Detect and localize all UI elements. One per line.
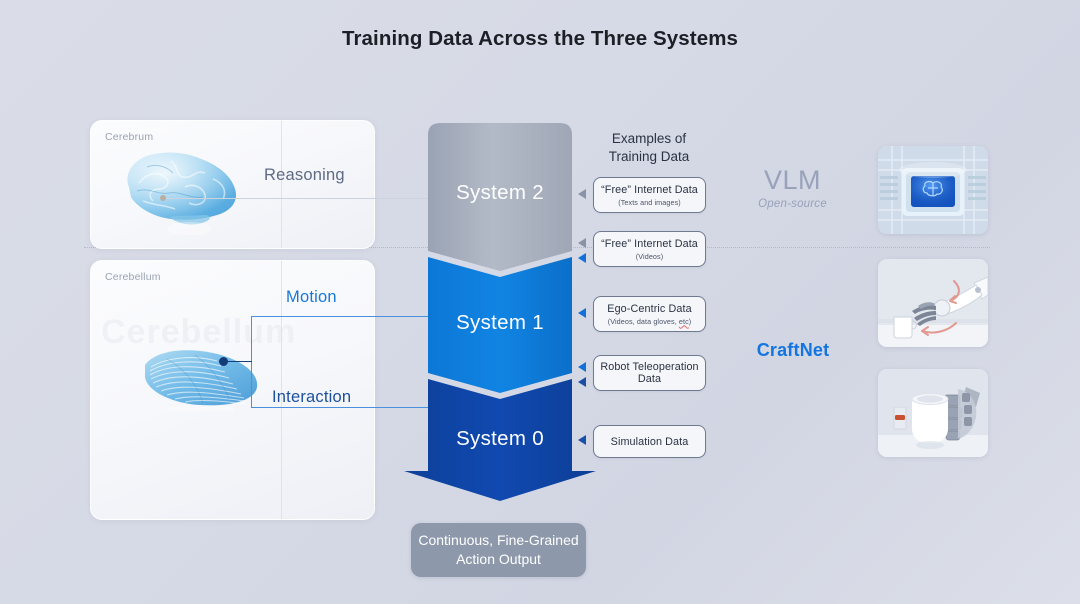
ai-chip-icon <box>878 146 988 234</box>
vlm-subtitle: Open-source <box>740 198 845 210</box>
vlm-title: VLM <box>740 165 845 196</box>
thumbnail-ai-chip[interactable] <box>878 146 988 234</box>
examples-heading: Examples of Training Data <box>583 130 715 166</box>
brain-illustration <box>113 143 253 235</box>
reasoning-connector-dot <box>160 195 166 201</box>
interaction-label: Interaction <box>272 388 351 407</box>
data-box-title: “Free” Internet Data <box>601 238 698 250</box>
examples-heading-line2: Training Data <box>583 148 715 166</box>
data-box-title: Simulation Data <box>611 436 689 448</box>
robot-arm-icon <box>878 259 988 347</box>
data-box-wavy-text: etc <box>679 317 689 326</box>
cerebrum-label: Cerebrum <box>105 131 153 143</box>
pointer-triangle <box>578 189 586 199</box>
data-box-title-line2: Data <box>638 373 661 385</box>
cerebellum-illustration <box>137 339 267 411</box>
data-box-subtitle: (Videos, data gloves, etc) <box>608 317 692 326</box>
data-box-title: Ego-Centric Data <box>607 303 691 315</box>
data-box-subtitle: (Texts and images) <box>618 198 681 207</box>
craftnet-title: CraftNet <box>728 340 858 361</box>
output-pill: Continuous, Fine-Grained Action Output <box>411 523 586 577</box>
data-box[interactable]: Robot Teleoperation Data <box>593 355 706 391</box>
bracket-anchor-dot <box>219 357 228 366</box>
data-box-subtitle: (Videos) <box>636 252 663 261</box>
pointer-triangle <box>578 435 586 445</box>
page-title: Training Data Across the Three Systems <box>0 27 1080 51</box>
thumbnail-robot-arm-reaching[interactable] <box>878 259 988 347</box>
examples-heading-line1: Examples of <box>583 130 715 148</box>
data-box[interactable]: Ego-Centric Data (Videos, data gloves, e… <box>593 296 706 332</box>
data-box[interactable]: Simulation Data <box>593 425 706 458</box>
diagram-canvas: Training Data Across the Three Systems C… <box>0 0 1080 604</box>
data-box[interactable]: “Free” Internet Data (Texts and images) <box>593 177 706 213</box>
output-label: Continuous, Fine-Grained Action Output <box>411 531 586 569</box>
data-box[interactable]: “Free” Internet Data (Videos) <box>593 231 706 267</box>
systems-arrow: System 2 System 1 System 0 <box>404 123 596 501</box>
cerebellum-label: Cerebellum <box>105 271 161 283</box>
motion-label: Motion <box>286 288 337 307</box>
pointer-triangle <box>578 253 586 263</box>
system-1-label: System 1 <box>404 311 596 335</box>
thumbnail-robot-hand-gripping-mug[interactable] <box>878 369 988 457</box>
data-box-title: Robot Teleoperation <box>600 361 698 373</box>
system-2-label: System 2 <box>404 181 596 205</box>
data-box-title: “Free” Internet Data <box>601 184 698 196</box>
pointer-triangle <box>578 362 586 372</box>
reasoning-label: Reasoning <box>264 166 345 185</box>
reasoning-connector-line <box>160 198 430 199</box>
robot-hand-icon <box>878 369 988 457</box>
pointer-triangle <box>578 238 586 248</box>
pointer-triangle <box>578 308 586 318</box>
pointer-triangle <box>578 377 586 387</box>
system-0-label: System 0 <box>404 427 596 451</box>
bracket-stem <box>224 361 252 362</box>
